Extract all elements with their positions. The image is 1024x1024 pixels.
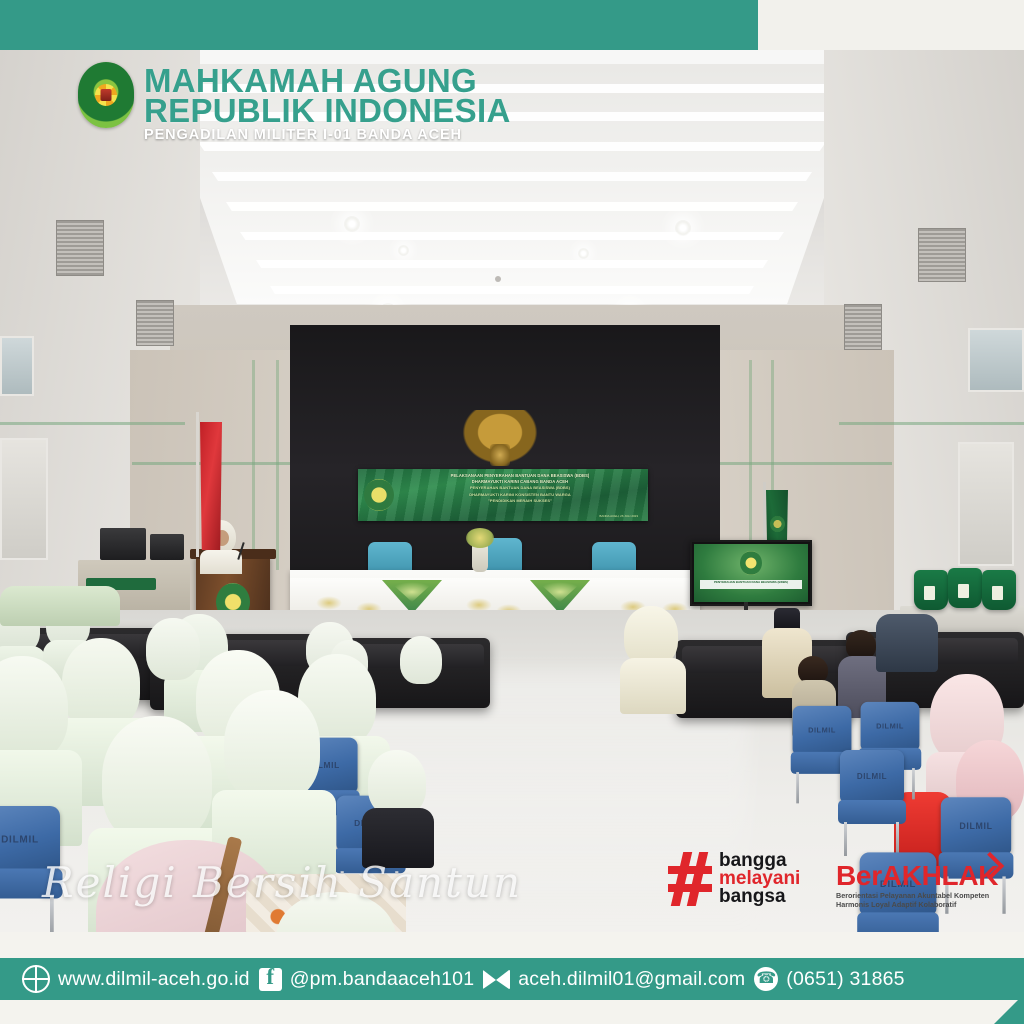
chair-back: DILMIL — [941, 797, 1011, 854]
facebook-icon — [259, 968, 282, 991]
indonesian-flag — [200, 422, 222, 550]
contact-email[interactable]: aceh.dilmil01@gmail.com — [483, 968, 745, 991]
ceiling-downlight — [675, 220, 691, 236]
footer-area: www.dilmil-aceh.go.id @pm.bandaaceh101 a… — [0, 932, 1024, 1024]
ceiling-rib — [256, 260, 768, 268]
event-photograph: PELAKSANAAN PENYERAHAN BANTUAN DANA BEAS… — [0, 50, 1024, 932]
window — [968, 328, 1024, 392]
bangga-text: bangga melayani bangsa — [719, 852, 800, 906]
script-watermark: Religi Bersih Santun — [42, 858, 522, 907]
ceiling-downlight — [578, 248, 589, 259]
chair-back: DILMIL — [793, 706, 852, 754]
hashtag-icon — [668, 852, 712, 906]
contact-website[interactable]: www.dilmil-aceh.go.id — [22, 965, 250, 993]
attendee-hijab — [146, 618, 200, 680]
masthead: MAHKAMAH AGUNG REPUBLIK INDONESIA PENGAD… — [78, 62, 511, 143]
website-label: www.dilmil-aceh.go.id — [58, 968, 250, 991]
attendee-cap — [774, 608, 800, 630]
garuda-emblem — [460, 410, 540, 466]
gift-bag — [948, 568, 982, 608]
wall-trim-vertical — [749, 360, 752, 570]
door-panel — [958, 442, 1014, 566]
banner-date: BANDA ACEH, 26 JULI 2023 — [599, 514, 638, 518]
chair-leg — [1002, 876, 1005, 913]
attendee-hijab — [102, 716, 212, 844]
chair-seat — [857, 912, 939, 932]
monitor — [100, 528, 146, 560]
presentation-screen: PENYERAHAN BANTUAN DANA BEASISWA (BDBS) — [690, 540, 812, 606]
chair-label: DILMIL — [840, 772, 904, 781]
speaker-body — [200, 550, 242, 574]
masthead-line-2: REPUBLIK INDONESIA — [144, 94, 511, 127]
attendee-body — [620, 658, 686, 714]
attendee-hijab — [224, 690, 320, 802]
berakhlak-sub-line-1: Berorientasi Pelayanan Akuntabel Kompete… — [836, 891, 998, 900]
attendee-body — [876, 614, 938, 672]
facebook-label: @pm.bandaaceh101 — [290, 968, 475, 991]
corner-accent — [994, 994, 1024, 1024]
chair-back: DILMIL — [861, 702, 920, 750]
chair-leg — [896, 822, 899, 856]
chair-leg — [844, 822, 847, 856]
supreme-court-emblem-icon — [78, 62, 134, 128]
berakhlak-logo: BerAKHLAK Berorientasi Pelayanan Akuntab… — [836, 862, 998, 909]
chair-back: DILMIL — [840, 750, 904, 802]
phone-icon — [754, 967, 778, 991]
event-banner: PELAKSANAAN PENYERAHAN BANTUAN DANA BEAS… — [358, 469, 648, 521]
chair-label: DILMIL — [793, 726, 852, 734]
window — [0, 336, 34, 396]
chair-seat — [838, 800, 906, 824]
audience-chair: DILMIL — [836, 750, 908, 846]
wall-trim-vertical — [276, 360, 279, 570]
air-vent — [918, 228, 966, 282]
contact-facebook[interactable]: @pm.bandaaceh101 — [259, 968, 475, 991]
contact-bar: www.dilmil-aceh.go.id @pm.bandaaceh101 a… — [0, 958, 1024, 1000]
chair-leg — [912, 768, 915, 799]
header-teal-band — [0, 0, 758, 50]
wall-trim — [702, 462, 892, 465]
poster-canvas: PELAKSANAAN PENYERAHAN BANTUAN DANA BEAS… — [0, 0, 1024, 1024]
wall-trim — [0, 422, 185, 425]
door-panel — [0, 438, 48, 560]
bangga-melayani-bangsa-logo: bangga melayani bangsa — [668, 852, 800, 906]
screen-emblem-icon — [740, 551, 762, 575]
attendee-hijab — [624, 606, 678, 666]
email-label: aceh.dilmil01@gmail.com — [518, 968, 745, 991]
wall-trim-vertical — [252, 360, 255, 570]
globe-icon — [22, 965, 50, 993]
chair-leg — [796, 772, 799, 803]
screen-caption: PENYERAHAN BANTUAN DANA BEASISWA (BDBS) — [700, 580, 802, 589]
sprinkler-head — [495, 276, 501, 282]
screen-content: PENYERAHAN BANTUAN DANA BEASISWA (BDBS) — [694, 544, 808, 602]
contact-phone[interactable]: (0651) 31865 — [754, 967, 904, 991]
attendee-hijab — [368, 750, 426, 816]
wall-trim — [132, 462, 312, 465]
chair-label: DILMIL — [0, 834, 60, 845]
air-vent — [56, 220, 104, 276]
header-right-blank — [758, 0, 1024, 50]
ceiling-downlight — [344, 216, 360, 232]
masthead-text: MAHKAMAH AGUNG REPUBLIK INDONESIA PENGAD… — [144, 62, 511, 143]
ceiling-rib — [226, 202, 798, 211]
wall-trim — [839, 422, 1024, 425]
mail-icon — [483, 970, 510, 989]
ceiling-rib — [212, 172, 812, 181]
ceiling-rib — [270, 286, 754, 294]
banner-text: PELAKSANAAN PENYERAHAN BANTUAN DANA BEAS… — [398, 473, 642, 504]
banner-logo-icon — [364, 479, 394, 511]
flagpole — [196, 412, 199, 557]
attendee-hijab — [62, 638, 140, 730]
chair-label: DILMIL — [941, 821, 1011, 831]
masthead-line-3: PENGADILAN MILITER I-01 BANDA ACEH — [144, 128, 511, 143]
air-vent — [136, 300, 174, 346]
screen-caption-line-1: PENYERAHAN BANTUAN DANA BEASISWA (BDBS) — [700, 580, 802, 584]
ceiling-rib — [198, 142, 826, 151]
attendee-hijab — [400, 636, 442, 684]
ceiling-downlight — [398, 245, 409, 256]
berakhlak-subtitle: Berorientasi Pelayanan Akuntabel Kompete… — [836, 891, 998, 909]
chair-label: DILMIL — [861, 722, 920, 730]
bangga-line-3: bangsa — [719, 888, 800, 906]
berakhlak-title: BerAKHLAK — [836, 862, 998, 890]
monitor — [150, 534, 184, 560]
ceiling-rib — [240, 232, 784, 240]
table-embroidery — [316, 596, 342, 610]
berakhlak-prefix: Ber — [836, 860, 882, 891]
flower-vase — [472, 544, 488, 572]
berakhlak-sub-line-2: Harmonis Loyal Adaptif Kolaboratif — [836, 900, 998, 909]
banner-line-5: "PENDIDIKAN MERAIH SUKSES" — [398, 498, 642, 504]
attendee-body — [0, 586, 120, 626]
phone-label: (0651) 31865 — [786, 968, 904, 991]
gift-bag — [982, 570, 1016, 610]
flower-arrangement — [466, 528, 494, 548]
gift-bag — [914, 570, 948, 610]
air-vent — [844, 304, 882, 350]
